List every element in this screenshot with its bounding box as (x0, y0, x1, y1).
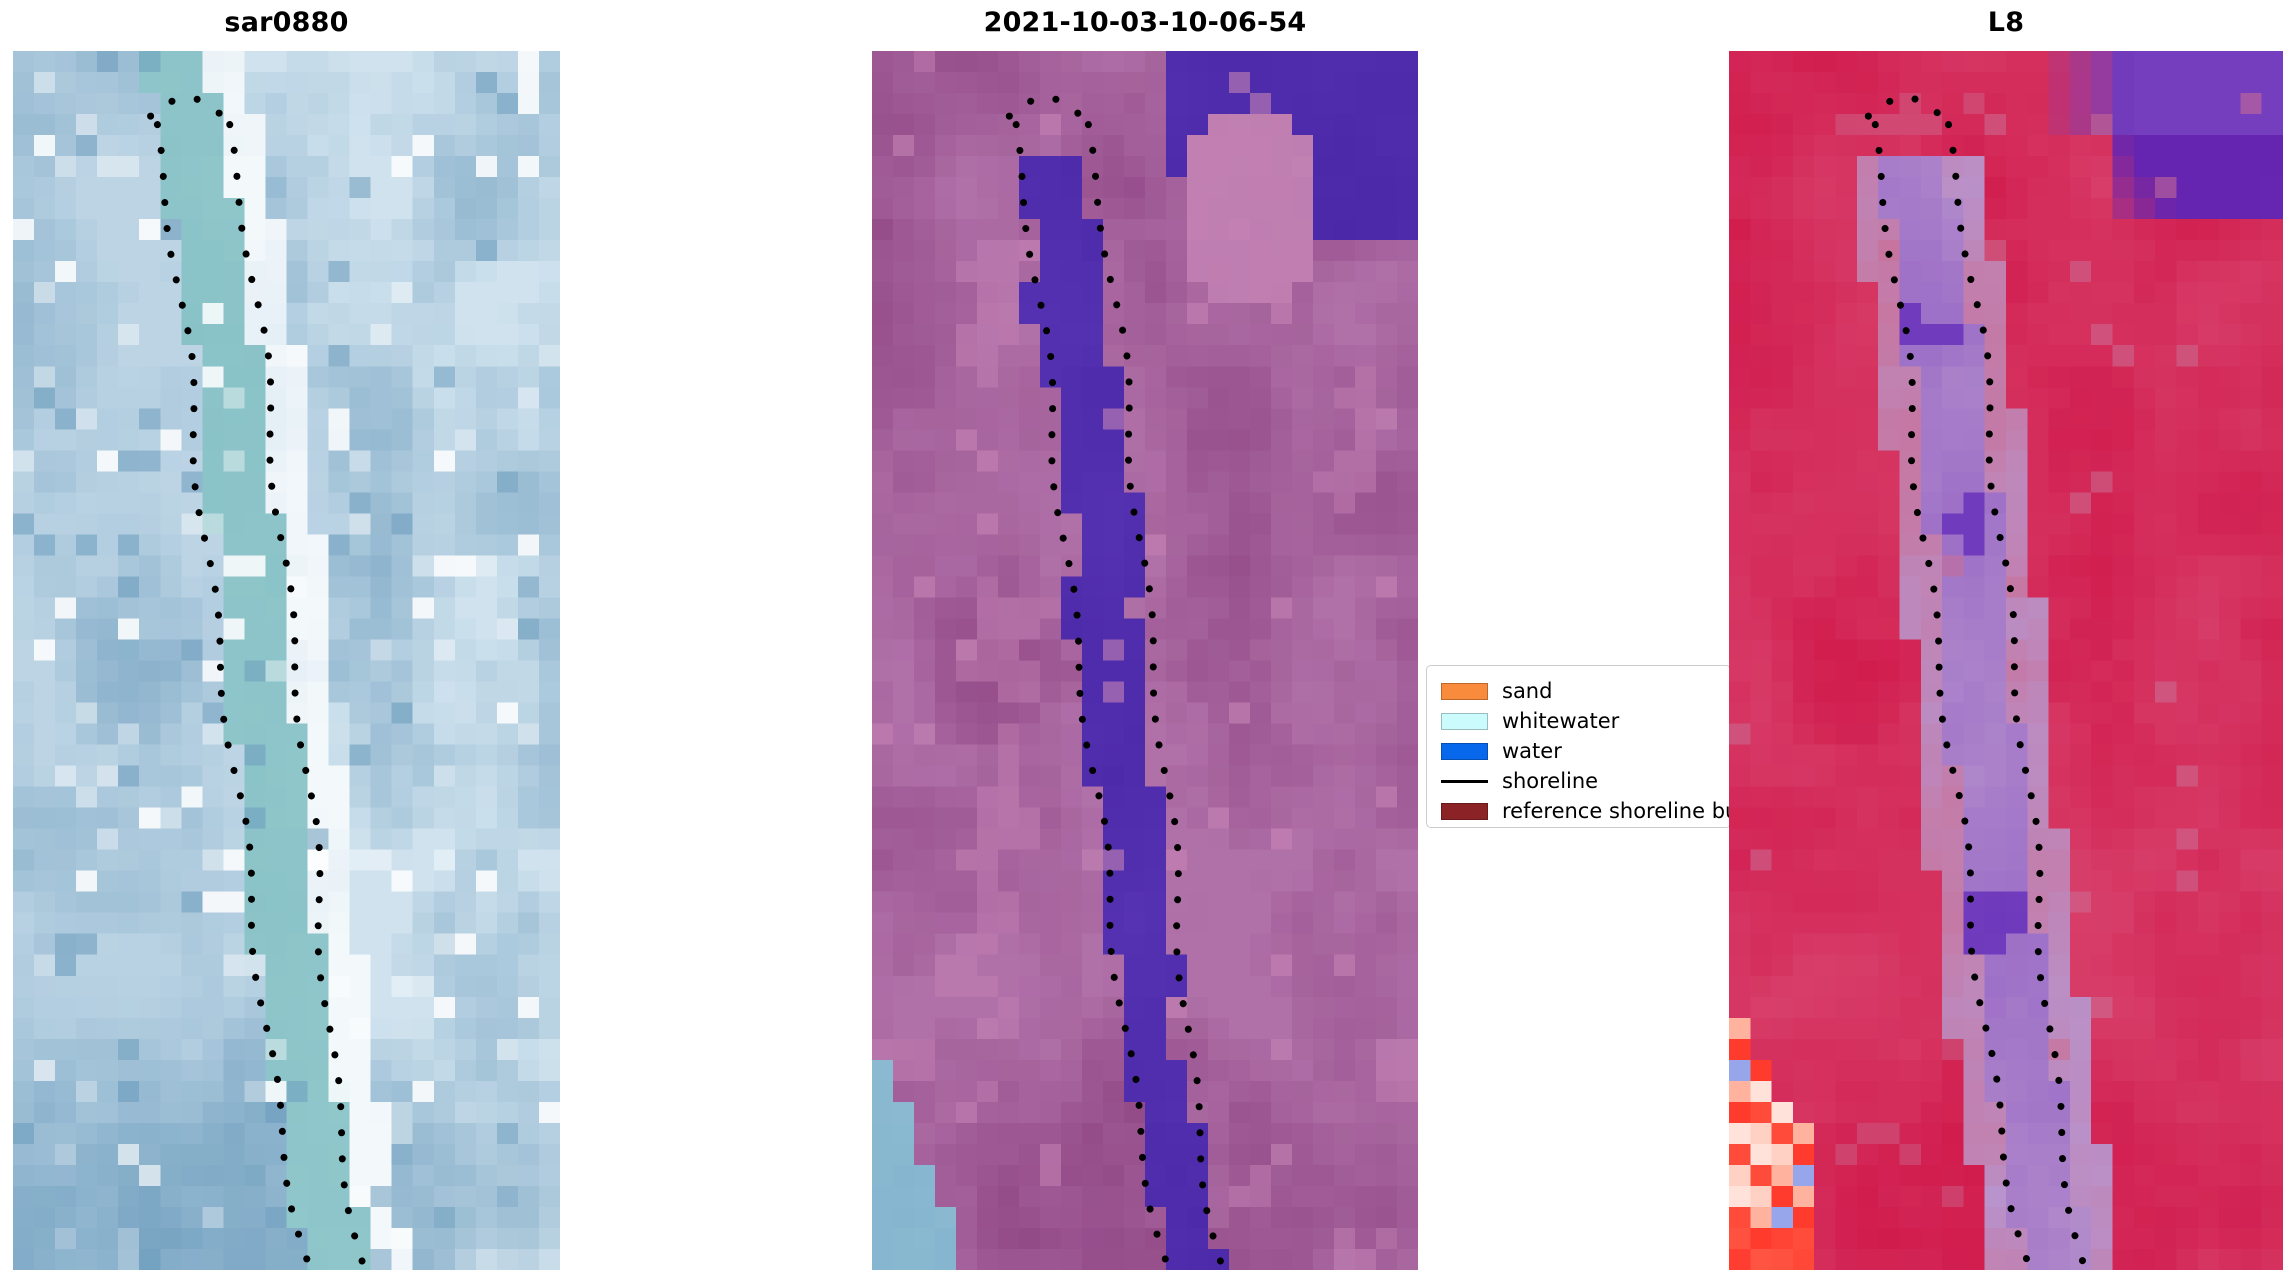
figure-canvas: sar0880 2021-10-03-10-06-54 L8 sand whit… (0, 0, 2289, 1283)
legend-label-water: water (1502, 741, 1562, 762)
legend-label-whitewater: whitewater (1502, 711, 1619, 732)
image-panel-l8[interactable] (1729, 51, 2283, 1270)
shoreline-line-icon (1441, 780, 1488, 783)
image-panel-classified[interactable] (872, 51, 1418, 1270)
whitewater-swatch-icon (1441, 713, 1488, 730)
legend-item-water: water (1427, 736, 1730, 766)
legend-label-reference-buffer: reference shoreline buffer (1502, 801, 1731, 822)
raster-image-classified (872, 51, 1418, 1270)
legend-item-reference-buffer: reference shoreline buffer (1427, 796, 1730, 826)
legend-label-shoreline: shoreline (1502, 771, 1598, 792)
legend-item-sand: sand (1427, 676, 1730, 706)
raster-image-l8 (1729, 51, 2283, 1270)
raster-image-sar (13, 51, 560, 1270)
panel-title-date: 2021-10-03-10-06-54 (872, 6, 1418, 40)
water-swatch-icon (1441, 743, 1488, 760)
legend-item-whitewater: whitewater (1427, 706, 1730, 736)
panel-title-sar: sar0880 (13, 6, 560, 40)
legend-label-sand: sand (1502, 681, 1552, 702)
panel-title-l8: L8 (1729, 6, 2283, 40)
image-panel-sar[interactable] (13, 51, 560, 1270)
sand-swatch-icon (1441, 683, 1488, 700)
legend-item-shoreline: shoreline (1427, 766, 1730, 796)
reference-buffer-swatch-icon (1441, 803, 1488, 820)
legend-box: sand whitewater water shoreline referenc… (1426, 665, 1731, 828)
